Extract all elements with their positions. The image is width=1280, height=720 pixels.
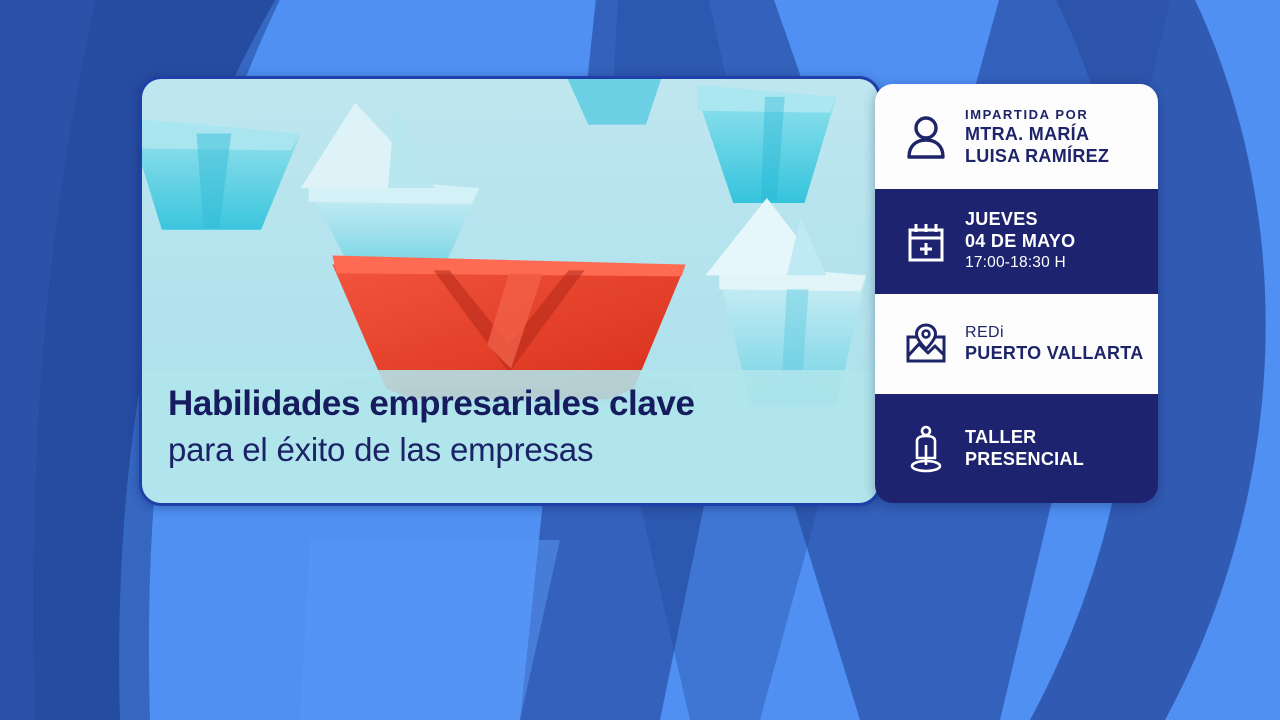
event-info-panel: IMPARTIDA POR MTRA. MARÍA LUISA RAMÍREZ … <box>875 84 1158 503</box>
presenter-podium-icon <box>895 425 957 473</box>
poster-subtitle: para el éxito de las empresas <box>168 431 593 469</box>
location-city: PUERTO VALLARTA <box>965 343 1144 365</box>
info-row-speaker: IMPARTIDA POR MTRA. MARÍA LUISA RAMÍREZ <box>875 84 1158 189</box>
title-band: Habilidades empresariales clave para el … <box>142 370 878 503</box>
speaker-name-line2: LUISA RAMÍREZ <box>965 146 1109 168</box>
event-image-card: Habilidades empresariales clave para el … <box>139 76 881 506</box>
poster-title: Habilidades empresariales clave <box>168 384 695 424</box>
map-pin-icon <box>895 323 957 365</box>
location-center: REDi <box>965 323 1144 344</box>
modality-line1: TALLER <box>965 427 1084 449</box>
modality-line2: PRESENCIAL <box>965 449 1084 471</box>
speaker-label: IMPARTIDA POR <box>965 105 1109 125</box>
footer-logos: Red de Centros de Innovación Innovación,… <box>0 540 1280 720</box>
date-day: JUEVES <box>965 209 1075 231</box>
info-row-location: REDi PUERTO VALLARTA <box>875 294 1158 394</box>
person-icon <box>895 115 957 159</box>
calendar-plus-icon <box>895 221 957 263</box>
date-full: 04 DE MAYO <box>965 231 1075 253</box>
info-row-modality: TALLER PRESENCIAL <box>875 394 1158 503</box>
info-row-date: JUEVES 04 DE MAYO 17:00-18:30 H <box>875 189 1158 294</box>
speaker-name-line1: MTRA. MARÍA <box>965 124 1109 146</box>
date-time: 17:00-18:30 H <box>965 253 1075 274</box>
